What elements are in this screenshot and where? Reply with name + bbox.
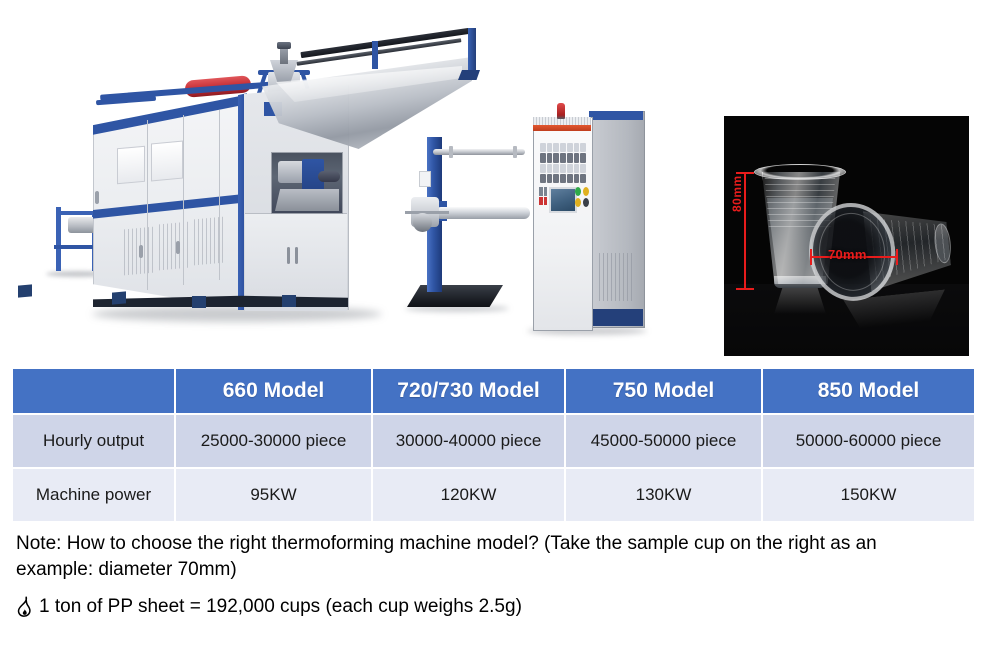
control-cabinet-hmi-screen <box>549 187 577 213</box>
table-header-model-750: 750 Model <box>565 369 762 414</box>
tipped-sample-cup <box>804 193 956 325</box>
upright-cup-rim <box>754 164 846 180</box>
roll-stand-collar-2 <box>513 146 517 158</box>
control-cabinet-mini-buttons <box>539 187 547 205</box>
row-label-hourly-output: Hourly output <box>13 414 175 468</box>
cell-hourly-output-720-730: 30000-40000 piece <box>372 414 565 468</box>
control-cabinet-indicator-lamps <box>575 187 589 207</box>
cell-hourly-output-850: 50000-60000 piece <box>762 414 974 468</box>
diameter-dimension-label: 70mm <box>828 247 867 262</box>
forming-station-window <box>271 152 343 214</box>
notes-section: Note: How to choose the right thermoform… <box>16 531 966 622</box>
cabinet-door-seam-2 <box>183 115 184 285</box>
cell-hourly-output-660: 25000-30000 piece <box>175 414 372 468</box>
note-paragraph: Note: How to choose the right thermoform… <box>16 531 951 583</box>
note-bullet-row: 1 ton of PP sheet = 192,000 cups (each c… <box>16 594 966 622</box>
machine-foot-4 <box>282 295 296 307</box>
control-cabinet-alarm-beacon <box>557 103 565 119</box>
height-dimension-label: 80mm <box>730 175 744 212</box>
table-header-model-720-730: 720/730 Model <box>372 369 565 414</box>
table-row-hourly-output: Hourly output 25000-30000 piece 30000-40… <box>13 414 974 468</box>
cabinet-handle-2 <box>176 241 180 254</box>
table-corner-cell <box>13 369 175 414</box>
thermoforming-machine-illustration <box>0 0 720 362</box>
control-cabinet-side-top-trim <box>589 111 643 120</box>
cabinet-door-seam-3 <box>219 110 220 280</box>
table-header-model-850: 850 Model <box>762 369 974 414</box>
roll-stand-base-plate <box>407 285 503 307</box>
roll-stand-motor-disc <box>413 213 432 232</box>
cell-machine-power-850: 150KW <box>762 468 974 521</box>
flame-icon <box>16 596 33 622</box>
forming-mechanism-c <box>318 171 340 182</box>
roll-stand-upper-shaft <box>433 149 525 155</box>
machine-foot-3 <box>192 296 206 308</box>
cabinet-inspection-panel-2 <box>151 141 183 182</box>
cell-machine-power-750: 130KW <box>565 468 762 521</box>
model-specification-table: 660 Model 720/730 Model 750 Model 850 Mo… <box>13 369 974 521</box>
cabinet-double-handle <box>287 247 301 264</box>
roll-stand-collar-1 <box>449 146 453 158</box>
cabinet-handle-3 <box>95 191 99 204</box>
machine-foot-1 <box>18 284 32 297</box>
hopper-cap <box>277 42 291 49</box>
table-header-row: 660 Model 720/730 Model 750 Model 850 Mo… <box>13 369 974 414</box>
product-image-area: 80mm 70mm <box>0 0 985 362</box>
cabinet-door-seam-1 <box>147 120 148 290</box>
table-header-model-660: 660 Model <box>175 369 372 414</box>
sample-cup-photo: 80mm 70mm <box>724 116 969 356</box>
note-bullet-text: 1 ton of PP sheet = 192,000 cups (each c… <box>39 594 522 620</box>
cabinet-inspection-panel-1 <box>117 146 145 185</box>
electrical-control-cabinet <box>527 103 645 338</box>
diameter-dimension-cap-right <box>896 249 898 265</box>
machine-foot-2 <box>112 291 126 304</box>
aux-frame-bar-top <box>56 211 98 215</box>
height-dimension-line <box>744 172 746 290</box>
row-label-machine-power: Machine power <box>13 468 175 521</box>
cabinet-vent-2 <box>159 222 189 271</box>
cell-hourly-output-750: 45000-50000 piece <box>565 414 762 468</box>
roll-stand-lower-shaft <box>435 207 530 219</box>
roll-stand-label-tag <box>419 171 431 187</box>
control-cabinet-side-base-trim <box>589 309 643 326</box>
aux-frame-post-left <box>56 207 61 271</box>
control-cabinet-button-matrix <box>540 143 586 183</box>
cell-machine-power-720-730: 120KW <box>372 468 565 521</box>
sheet-support-post-left <box>372 41 378 69</box>
control-cabinet-side-vent <box>599 253 635 301</box>
height-dimension-cap-bottom <box>736 288 754 290</box>
forming-output-tray <box>275 189 339 211</box>
hopper-neck <box>280 48 288 64</box>
table-row-machine-power: Machine power 95KW 120KW 130KW 150KW <box>13 468 974 521</box>
control-cabinet-red-band <box>533 125 591 131</box>
cell-machine-power-660: 95KW <box>175 468 372 521</box>
sheet-unwinding-roll-stand <box>405 135 530 315</box>
cabinet-handle-1 <box>139 245 143 258</box>
